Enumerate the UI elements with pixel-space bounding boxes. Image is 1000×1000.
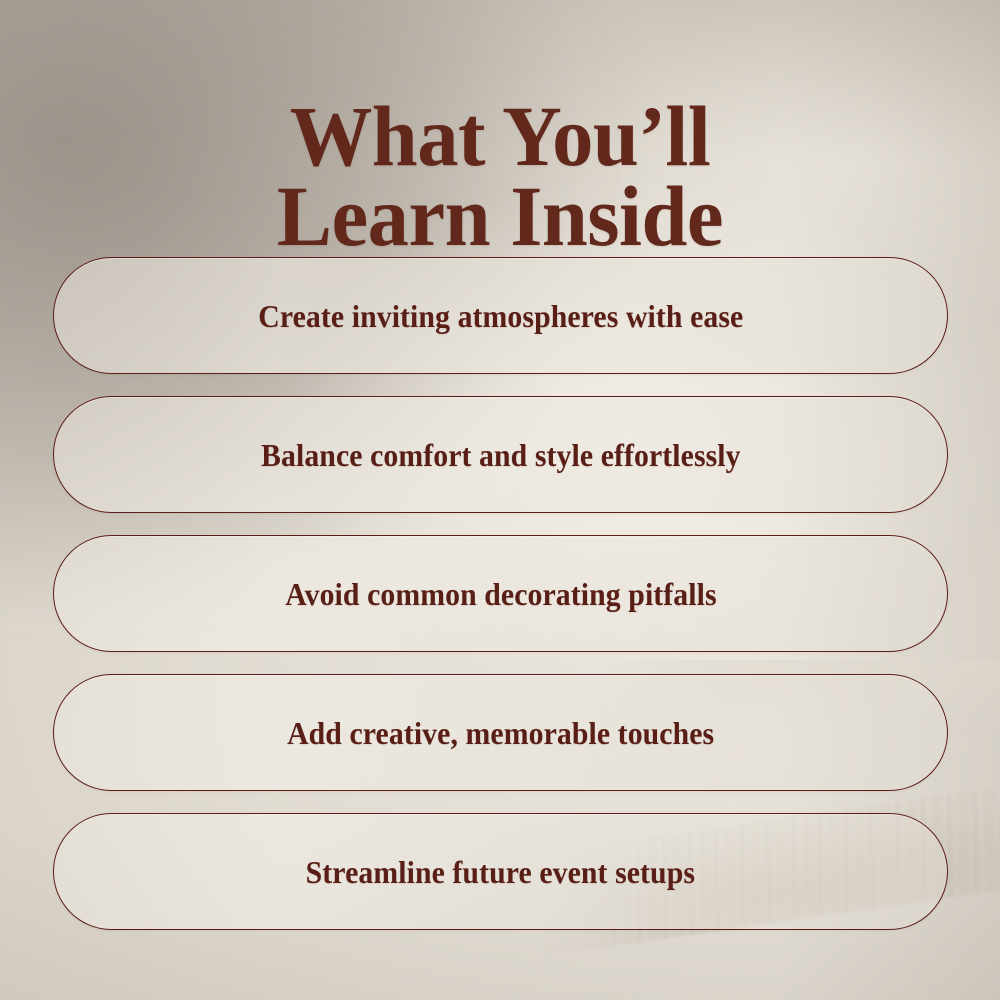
list-item-label: Streamline future event setups xyxy=(306,856,695,888)
page-title-line-1: What You’ll xyxy=(20,96,980,177)
page-title-line-2: Learn Inside xyxy=(20,176,980,257)
page-title: What You’ll Learn Inside xyxy=(0,96,1000,258)
poster-canvas: What You’ll Learn Inside Create inviting… xyxy=(0,0,1000,1000)
poster-content: What You’ll Learn Inside Create inviting… xyxy=(0,0,1000,1000)
list-item-label: Balance comfort and style effortlessly xyxy=(261,439,741,471)
list-item[interactable]: Avoid common decorating pitfalls xyxy=(53,535,948,652)
list-item-label: Avoid common decorating pitfalls xyxy=(285,578,716,610)
list-item[interactable]: Streamline future event setups xyxy=(53,813,948,930)
list-item[interactable]: Create inviting atmospheres with ease xyxy=(53,257,948,374)
list-item-label: Create inviting atmospheres with ease xyxy=(258,300,743,332)
list-item-label: Add creative, memorable touches xyxy=(287,717,714,749)
list-item[interactable]: Add creative, memorable touches xyxy=(53,674,948,791)
learn-items-list: Create inviting atmospheres with ease Ba… xyxy=(53,257,948,930)
list-item[interactable]: Balance comfort and style effortlessly xyxy=(53,396,948,513)
